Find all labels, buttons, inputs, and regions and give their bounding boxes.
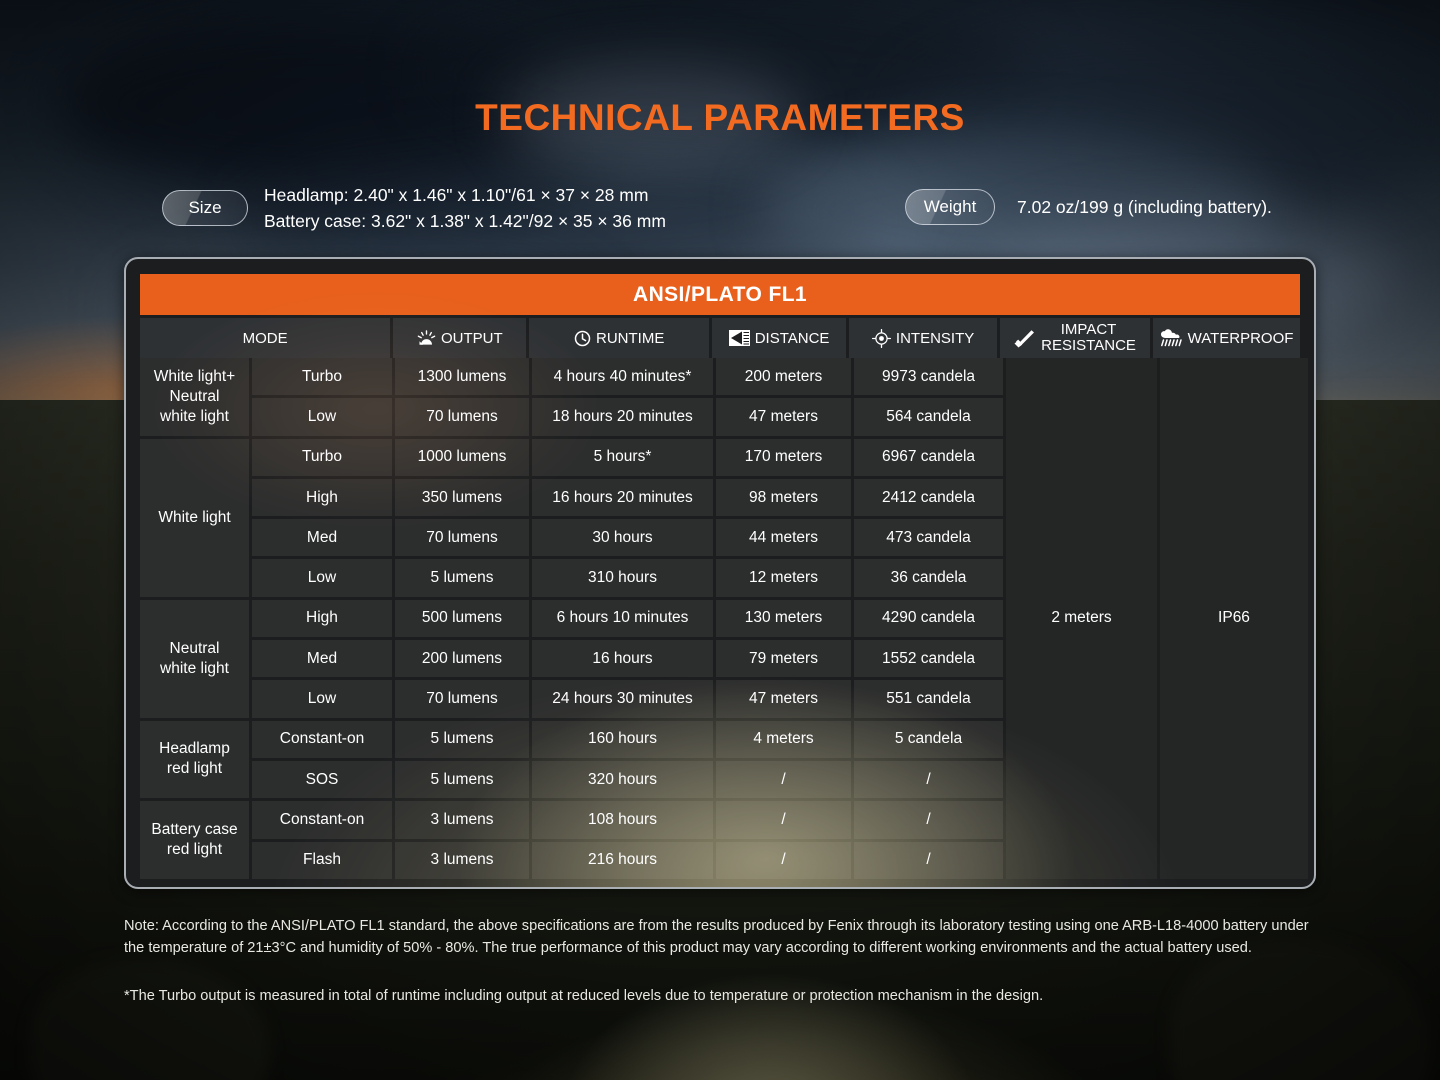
cell-runtime: 6 hours 10 minutes — [532, 600, 713, 637]
column-header-mode: MODE — [140, 318, 390, 358]
table-body: White light+ Neutral white lightTurbo130… — [140, 358, 1300, 882]
cell-mode: Turbo — [252, 439, 392, 476]
size-pill-label: Size — [162, 190, 248, 226]
cell-output: 1000 lumens — [395, 439, 529, 476]
column-header-output: OUTPUT — [393, 318, 526, 358]
note-turbo-footnote: *The Turbo output is measured in total o… — [124, 985, 1314, 1007]
cell-impact-resistance: 2 meters — [1006, 358, 1157, 879]
cell-mode: High — [252, 600, 392, 637]
cell-mode: Constant-on — [252, 721, 392, 758]
cell-waterproof: IP66 — [1160, 358, 1308, 879]
light-burst-icon — [417, 330, 436, 346]
column-header-label: WATERPROOF — [1188, 330, 1294, 347]
cell-mode: High — [252, 479, 392, 516]
cell-output: 3 lumens — [395, 842, 529, 879]
cell-distance: 47 meters — [716, 398, 851, 435]
column-header-intensity: INTENSITY — [849, 318, 997, 358]
table-title-bar: ANSI/PLATO FL1 — [140, 274, 1300, 315]
cell-intensity: 1552 candela — [854, 640, 1003, 677]
cell-runtime: 310 hours — [532, 559, 713, 596]
cell-distance: / — [716, 842, 851, 879]
beam-distance-icon — [729, 330, 750, 346]
cell-runtime: 108 hours — [532, 801, 713, 838]
cell-intensity: 473 candela — [854, 519, 1003, 556]
table-header-row: MODEOUTPUTRUNTIMEDISTANCEINTENSITYIMPACT… — [140, 318, 1300, 358]
cell-mode: Med — [252, 519, 392, 556]
cell-output: 5 lumens — [395, 721, 529, 758]
cell-output: 70 lumens — [395, 398, 529, 435]
cell-runtime: 18 hours 20 minutes — [532, 398, 713, 435]
cell-distance: 98 meters — [716, 479, 851, 516]
cell-distance: 12 meters — [716, 559, 851, 596]
mode-group-label: White light — [140, 439, 249, 597]
size-spec-value: Headlamp: 2.40" x 1.46" x 1.10"/61 × 37 … — [264, 182, 666, 234]
cell-runtime: 320 hours — [532, 761, 713, 798]
column-header-label: DISTANCE — [755, 330, 830, 347]
cell-output: 5 lumens — [395, 559, 529, 596]
mode-group-label: White light+ Neutral white light — [140, 358, 249, 436]
cell-intensity: 6967 candela — [854, 439, 1003, 476]
cell-runtime: 30 hours — [532, 519, 713, 556]
cell-runtime: 4 hours 40 minutes* — [532, 358, 713, 395]
hammer-check-icon — [1014, 329, 1036, 348]
column-header-runtime: RUNTIME — [529, 318, 709, 358]
cell-distance: 170 meters — [716, 439, 851, 476]
cell-output: 1300 lumens — [395, 358, 529, 395]
cell-distance: 44 meters — [716, 519, 851, 556]
cell-output: 350 lumens — [395, 479, 529, 516]
weight-spec-row: Weight 7.02 oz/199 g (including battery)… — [905, 189, 1272, 225]
column-header-waterproof: WATERPROOF — [1153, 318, 1300, 358]
cell-runtime: 160 hours — [532, 721, 713, 758]
cell-distance: / — [716, 761, 851, 798]
column-header-label: INTENSITY — [896, 330, 974, 347]
cell-intensity: 4290 candela — [854, 600, 1003, 637]
cell-distance: / — [716, 801, 851, 838]
cell-intensity: / — [854, 801, 1003, 838]
column-header-label: RUNTIME — [596, 330, 664, 347]
cell-output: 200 lumens — [395, 640, 529, 677]
cell-intensity: 5 candela — [854, 721, 1003, 758]
cell-mode: Flash — [252, 842, 392, 879]
clock-icon — [574, 330, 591, 347]
cell-runtime: 216 hours — [532, 842, 713, 879]
size-spec-row: Size Headlamp: 2.40" x 1.46" x 1.10"/61 … — [162, 182, 666, 234]
rain-cloud-icon — [1160, 329, 1183, 347]
mode-group-label: Battery case red light — [140, 801, 249, 879]
cell-output: 70 lumens — [395, 519, 529, 556]
weight-pill-label: Weight — [905, 189, 995, 225]
cell-distance: 130 meters — [716, 600, 851, 637]
cell-distance: 200 meters — [716, 358, 851, 395]
cell-runtime: 24 hours 30 minutes — [532, 680, 713, 717]
note-main: Note: According to the ANSI/PLATO FL1 st… — [124, 915, 1314, 959]
cell-runtime: 16 hours 20 minutes — [532, 479, 713, 516]
cell-output: 3 lumens — [395, 801, 529, 838]
cell-mode: SOS — [252, 761, 392, 798]
cell-intensity: 36 candela — [854, 559, 1003, 596]
cell-mode: Med — [252, 640, 392, 677]
mode-group-label: Headlamp red light — [140, 721, 249, 799]
cell-distance: 79 meters — [716, 640, 851, 677]
cell-mode: Turbo — [252, 358, 392, 395]
mode-group-label: Neutral white light — [140, 600, 249, 718]
page-title: TECHNICAL PARAMETERS — [0, 97, 1440, 139]
cell-intensity: / — [854, 842, 1003, 879]
cell-distance: 4 meters — [716, 721, 851, 758]
cell-runtime: 5 hours* — [532, 439, 713, 476]
column-header-distance: DISTANCE — [712, 318, 846, 358]
cell-mode: Low — [252, 559, 392, 596]
cell-intensity: 551 candela — [854, 680, 1003, 717]
cell-output: 70 lumens — [395, 680, 529, 717]
cell-distance: 47 meters — [716, 680, 851, 717]
column-header-label: MODE — [243, 330, 288, 347]
cell-mode: Low — [252, 680, 392, 717]
crosshair-target-icon — [872, 329, 891, 348]
specifications-table: ANSI/PLATO FL1 MODEOUTPUTRUNTIMEDISTANCE… — [124, 257, 1316, 889]
cell-intensity: 564 candela — [854, 398, 1003, 435]
cell-output: 5 lumens — [395, 761, 529, 798]
weight-spec-value: 7.02 oz/199 g (including battery). — [1017, 194, 1272, 220]
cell-runtime: 16 hours — [532, 640, 713, 677]
cell-output: 500 lumens — [395, 600, 529, 637]
column-header-impact-resistance: IMPACT RESISTANCE — [1000, 318, 1150, 358]
column-header-label: IMPACT RESISTANCE — [1041, 322, 1136, 354]
cell-intensity: 9973 candela — [854, 358, 1003, 395]
cell-mode: Low — [252, 398, 392, 435]
column-header-label: OUTPUT — [441, 330, 503, 347]
cell-mode: Constant-on — [252, 801, 392, 838]
cell-intensity: 2412 candela — [854, 479, 1003, 516]
cell-intensity: / — [854, 761, 1003, 798]
